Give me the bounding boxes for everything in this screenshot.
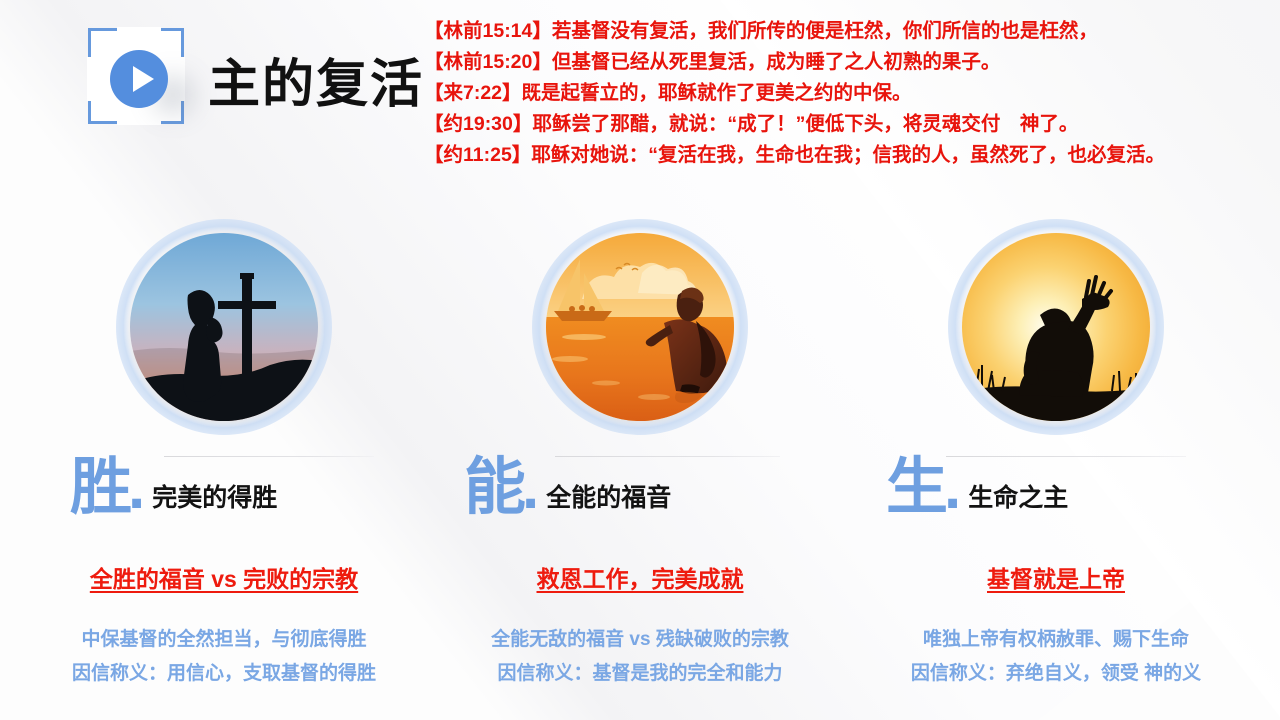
man-kneeling-hand-raised-sunset-image[interactable] (948, 219, 1164, 435)
scripture-line: 【约19:30】耶稣尝了那醋，就说：“成了！”便低下头，将灵魂交付 神了。 (424, 109, 1272, 140)
frame-notch-top (117, 27, 161, 35)
column-slogan-2: 救恩工作，完美成就 (430, 560, 850, 594)
column-body-2: 全能无敌的福音 vs 残缺破败的宗教 因信称义：基督是我的完全和能力 (430, 623, 850, 691)
heading-divider (946, 456, 1186, 457)
slide-canvas: 主的复活 【林前15:14】若基督没有复活，我们所传的便是枉然，你们所信的也是枉… (0, 0, 1280, 720)
body-line: 因信称义：用信心，支取基督的得胜 (14, 657, 434, 691)
big-character-dot: . (944, 459, 961, 518)
body-line: 因信称义：弃绝自义，领受 神的义 (846, 657, 1266, 691)
big-character: 胜 (70, 459, 132, 518)
column-heading-1: 胜 . 完美的得胜 (14, 453, 434, 525)
big-character-dot: . (522, 459, 539, 518)
scripture-line-text: 【林前15:20】但基督已经从死里复活，成为睡了之人初熟的果子。 (424, 51, 1000, 73)
body-line: 中保基督的全然担当，与彻底得胜 (14, 623, 434, 657)
column-body-3: 唯独上帝有权柄赦罪、赐下生命 因信称义：弃绝自义，领受 神的义 (846, 623, 1266, 691)
circle-photo (130, 233, 318, 421)
column-subtitle: 生命之主 (968, 478, 1068, 518)
big-character: 能 (464, 459, 526, 518)
play-triangle-icon (133, 66, 154, 92)
scripture-line-text: 【来7:22】既是起誓立的，耶稣就作了更美之约的中保。 (424, 82, 912, 104)
content-column-2: 能 . 全能的福音 救恩工作，完美成就 全能无敌的福音 vs 残缺破败的宗教 因… (430, 205, 850, 720)
scripture-line-text: 【约19:30】耶稣尝了那醋，就说：“成了！”便低下头，将灵魂交付 神了。 (424, 113, 1078, 135)
slogan-text: 基督就是上帝 (987, 566, 1125, 592)
slogan-text: 全胜的福音 vs 完败的宗教 (90, 566, 358, 592)
column-body-1: 中保基督的全然担当，与彻底得胜 因信称义：用信心，支取基督的得胜 (14, 623, 434, 691)
scripture-line: 【来7:22】既是起誓立的，耶稣就作了更美之约的中保。 (424, 78, 1272, 109)
column-heading-2: 能 . 全能的福音 (430, 453, 850, 525)
body-line: 全能无敌的福音 vs 残缺破败的宗教 (430, 623, 850, 657)
frame-notch-left (87, 57, 95, 101)
scripture-line: 【林前15:14】若基督没有复活，我们所传的便是枉然，你们所信的也是枉然， (424, 16, 1272, 47)
scripture-line-text: 【约11:25】耶稣对她说：“复活在我，生命也在我；信我的人，虽然死了，也必复活… (424, 144, 1165, 166)
scripture-line: 【约11:25】耶稣对她说：“复活在我，生命也在我；信我的人，虽然死了，也必复活… (424, 140, 1272, 171)
slogan-text: 救恩工作，完美成就 (537, 566, 744, 592)
scripture-line-text: 【林前15:14】若基督没有复活，我们所传的便是枉然，你们所信的也是枉然， (424, 20, 1098, 42)
column-subtitle: 完美的得胜 (152, 478, 277, 518)
column-slogan-3: 基督就是上帝 (846, 560, 1266, 594)
heading-divider (164, 456, 374, 457)
content-column-3: 生 . 生命之主 基督就是上帝 唯独上帝有权柄赦罪、赐下生命 因信称义：弃绝自义… (846, 205, 1266, 720)
circle-photo (962, 233, 1150, 421)
column-subtitle: 全能的福音 (546, 478, 671, 518)
column-heading-3: 生 . 生命之主 (846, 453, 1266, 525)
circle-photo (546, 233, 734, 421)
scripture-block: 【林前15:14】若基督没有复活，我们所传的便是枉然，你们所信的也是枉然， 【林… (424, 16, 1272, 171)
column-slogan-1: 全胜的福音 vs 完败的宗教 (14, 560, 434, 594)
praying-silhouette-at-cross-image[interactable] (116, 219, 332, 435)
frame-notch-bottom (117, 117, 161, 125)
heading-divider (555, 456, 780, 457)
content-column-1: 胜 . 完美的得胜 全胜的福音 vs 完败的宗教 中保基督的全然担当，与彻底得胜… (14, 205, 434, 720)
big-character: 生 (886, 459, 948, 518)
jesus-walking-on-water-image[interactable] (532, 219, 748, 435)
slide-header: 主的复活 【林前15:14】若基督没有复活，我们所传的便是枉然，你们所信的也是枉… (0, 0, 1280, 190)
big-character-dot: . (128, 459, 145, 518)
page-title: 主的复活 (208, 42, 424, 117)
play-circle (110, 50, 168, 108)
play-button-in-frame-icon[interactable] (88, 28, 188, 128)
logo-frame (88, 28, 184, 124)
body-line: 唯独上帝有权柄赦罪、赐下生命 (846, 623, 1266, 657)
body-line: 因信称义：基督是我的完全和能力 (430, 657, 850, 691)
scripture-line: 【林前15:20】但基督已经从死里复活，成为睡了之人初熟的果子。 (424, 47, 1272, 78)
frame-notch-right (177, 57, 185, 101)
